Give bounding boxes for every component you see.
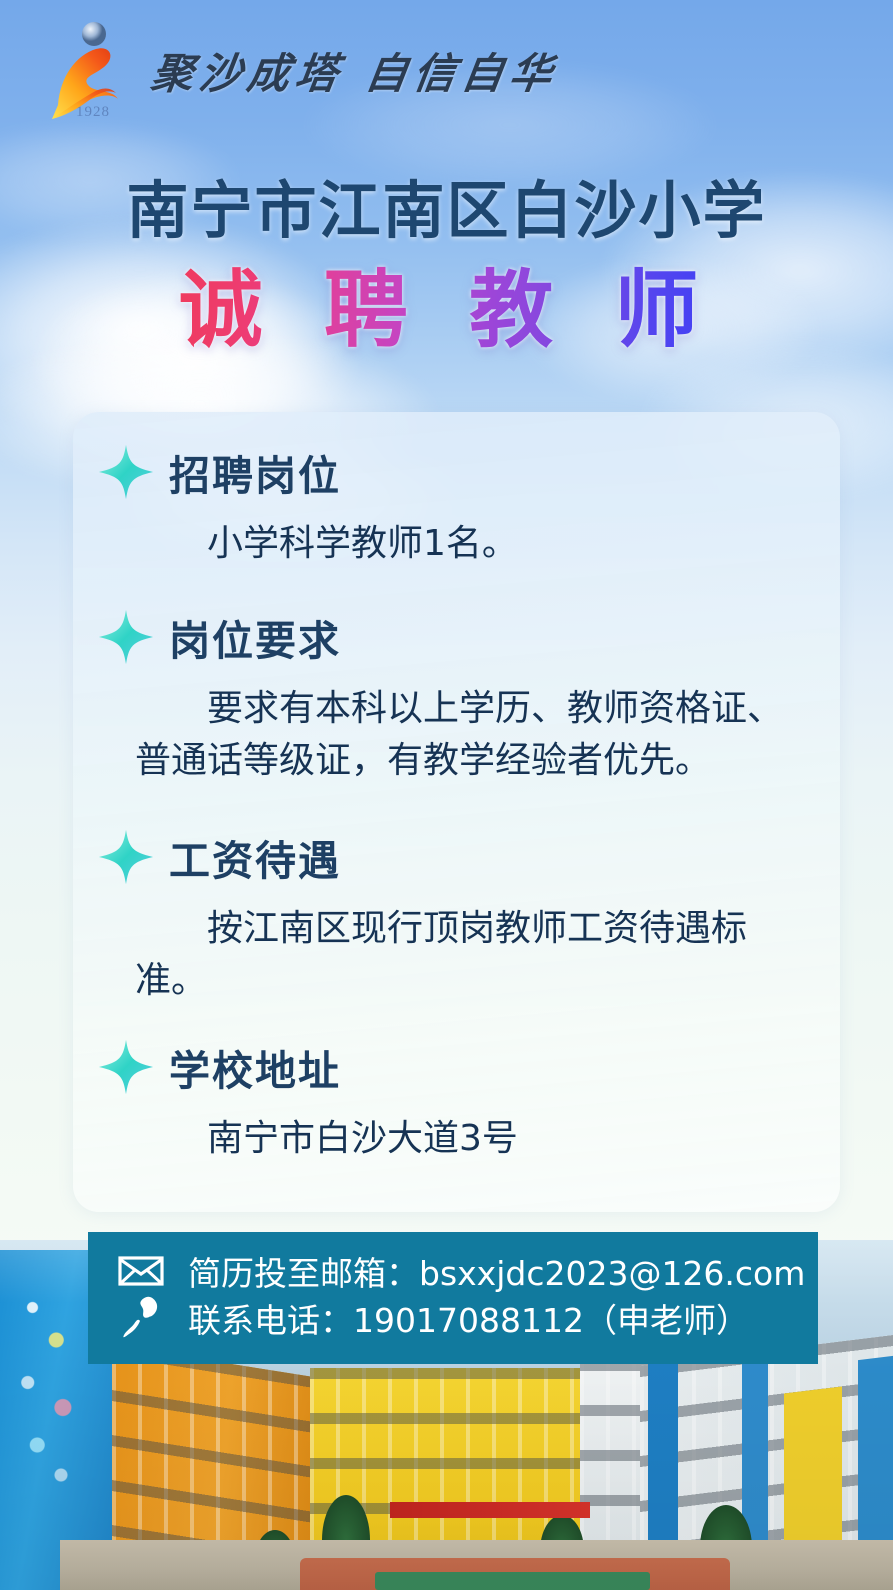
contact-text-lines: 简历投至邮箱：bsxxjdc2023@126.com 联系电话：19017088… [188, 1251, 818, 1345]
school-name-title: 南宁市江南区白沙小学 [0, 160, 893, 250]
section-header: 岗位要求 [73, 607, 840, 667]
section-body: 按江南区现行顶岗教师工资待遇标准。 [73, 903, 840, 1007]
school-slogan: 聚沙成塔自信自华 [148, 40, 563, 101]
section-title: 岗位要求 [169, 607, 341, 667]
sparkle-star-icon [97, 608, 155, 666]
slogan-right-text: 自信自华 [362, 49, 561, 98]
section-header: 学校地址 [73, 1037, 840, 1097]
headline-recruit-teachers: 诚 聘 教 师 [0, 262, 893, 359]
content-card: 招聘岗位 小学科学教师1名。 岗位要求 要求有本科以上学历、教师资格证、普通话等… [73, 412, 840, 1212]
recruitment-poster: 1928 聚沙成塔自信自华 南宁市江南区白沙小学 诚 聘 教 师 [0, 0, 893, 1590]
section-title: 招聘岗位 [169, 442, 341, 502]
section-header: 招聘岗位 [73, 442, 840, 502]
section-body: 南宁市白沙大道3号 [73, 1113, 840, 1165]
section-job-requirements: 岗位要求 要求有本科以上学历、教师资格证、普通话等级证，有教学经验者优先。 [73, 607, 840, 787]
school-emblem-runner-icon: 1928 [38, 15, 134, 125]
contact-icon-column [98, 1255, 184, 1341]
section-body: 小学科学教师1名。 [73, 518, 840, 570]
slogan-left-text: 聚沙成塔 [148, 49, 347, 98]
headline-text: 诚 聘 教 师 [179, 262, 715, 359]
section-body: 要求有本科以上学历、教师资格证、普通话等级证，有教学经验者优先。 [73, 683, 840, 787]
envelope-icon [118, 1255, 164, 1287]
sparkle-star-icon [97, 1038, 155, 1096]
sparkle-star-icon [97, 828, 155, 886]
section-header: 工资待遇 [73, 827, 840, 887]
logo-year-label: 1928 [76, 104, 110, 121]
contact-bar: 简历投至邮箱：bsxxjdc2023@126.com 联系电话：19017088… [88, 1232, 818, 1364]
section-title: 工资待遇 [169, 827, 341, 887]
section-job-position: 招聘岗位 小学科学教师1名。 [73, 442, 840, 570]
section-salary: 工资待遇 按江南区现行顶岗教师工资待遇标准。 [73, 827, 840, 1007]
poster-header: 1928 聚沙成塔自信自华 [0, 0, 893, 140]
sparkle-star-icon [97, 443, 155, 501]
section-title: 学校地址 [169, 1037, 341, 1097]
contact-email-line[interactable]: 简历投至邮箱：bsxxjdc2023@126.com [188, 1251, 818, 1298]
contact-phone-line[interactable]: 联系电话：19017088112（申老师） [188, 1298, 818, 1345]
phone-handset-icon [120, 1295, 162, 1341]
section-school-address: 学校地址 南宁市白沙大道3号 [73, 1037, 840, 1165]
